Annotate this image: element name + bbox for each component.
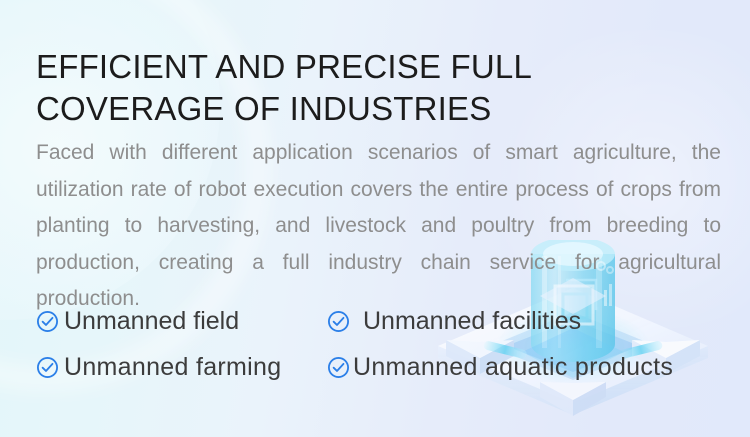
feature-item-unmanned-field[interactable]: Unmanned field: [36, 306, 239, 336]
feature-label: Unmanned field: [64, 306, 239, 336]
feature-row-1: Unmanned field Unmanned facilities: [36, 300, 736, 352]
feature-item-unmanned-aquatic-products[interactable]: Unmanned aquatic products: [327, 352, 673, 382]
check-circle-icon: [327, 356, 350, 379]
banner-content: EFFICIENT AND PRECISE FULL COVERAGE OF I…: [0, 0, 750, 437]
feature-item-unmanned-facilities[interactable]: Unmanned facilities: [327, 306, 581, 336]
feature-label: Unmanned farming: [64, 352, 281, 382]
title-line-2: COVERAGE OF INDUSTRIES: [36, 88, 636, 130]
banner-section: EFFICIENT AND PRECISE FULL COVERAGE OF I…: [0, 0, 750, 437]
title-line-1: EFFICIENT AND PRECISE FULL: [36, 46, 636, 88]
feature-label: Unmanned aquatic products: [353, 352, 673, 382]
feature-row-2: Unmanned farming Unmanned aquatic produc…: [36, 352, 736, 404]
check-circle-icon: [36, 356, 59, 379]
banner-title: EFFICIENT AND PRECISE FULL COVERAGE OF I…: [36, 46, 636, 130]
check-circle-icon: [327, 310, 350, 333]
feature-item-unmanned-farming[interactable]: Unmanned farming: [36, 352, 281, 382]
feature-list: Unmanned field Unmanned facilities: [36, 300, 736, 404]
feature-label: Unmanned facilities: [363, 306, 581, 336]
check-circle-icon: [36, 310, 59, 333]
